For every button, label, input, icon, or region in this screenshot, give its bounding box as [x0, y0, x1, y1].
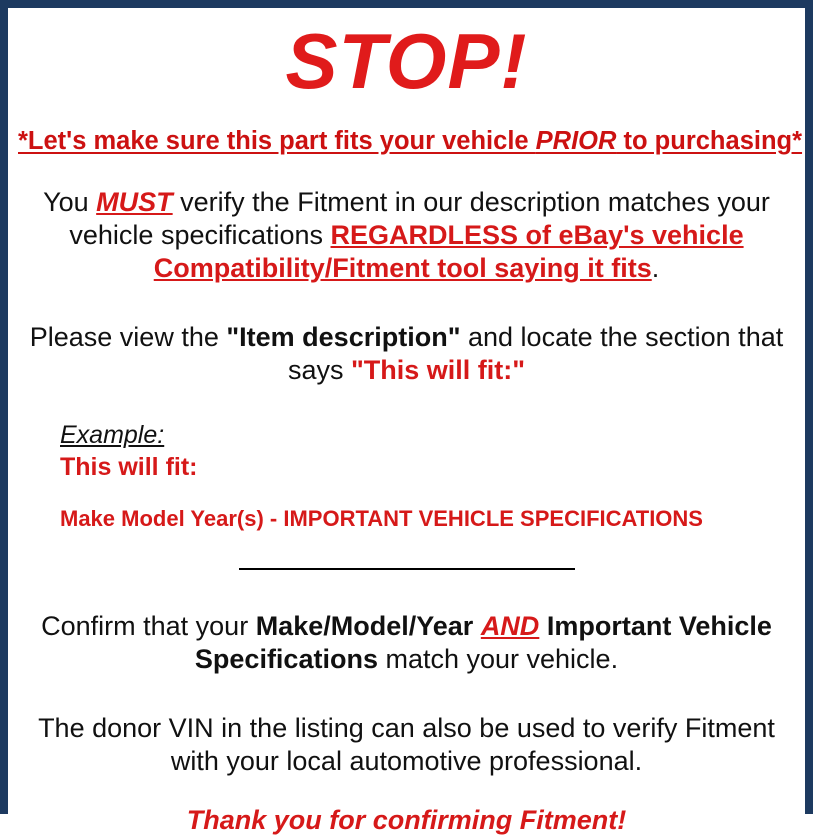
confirm-paragraph-part2: match your vehicle.: [378, 644, 618, 674]
example-block: Example: This will fit: Make Model Year(…: [18, 421, 795, 532]
item-description-paragraph: Please view the "Item description" and l…: [18, 321, 795, 387]
example-fit-heading: This will fit:: [60, 452, 795, 482]
confirm-space-1: [473, 611, 481, 641]
stop-headline: STOP!: [18, 22, 795, 100]
confirm-paragraph-part1: Confirm that your: [41, 611, 256, 641]
section-divider: [239, 568, 575, 570]
item-description-label: "Item description": [226, 322, 460, 352]
confirm-paragraph: Confirm that your Make/Model/Year AND Im…: [18, 610, 795, 676]
confirm-space-2: [539, 611, 547, 641]
fitment-notice-frame: STOP! *Let's make sure this part fits yo…: [0, 0, 813, 814]
thank-you-message: Thank you for confirming Fitment!: [18, 804, 795, 836]
must-paragraph-part3: .: [652, 253, 660, 283]
must-verify-paragraph: You MUST verify the Fitment in our descr…: [18, 186, 795, 285]
tagline-suffix: to purchasing*: [616, 127, 802, 155]
donor-vin-paragraph: The donor VIN in the listing can also be…: [18, 712, 795, 778]
divider-wrap: [18, 560, 795, 578]
this-will-fit-quote: "This will fit:": [351, 355, 525, 385]
view-paragraph-part1: Please view the: [30, 322, 227, 352]
example-spec-line: Make Model Year(s) - IMPORTANT VEHICLE S…: [60, 506, 795, 532]
example-label: Example:: [60, 421, 795, 450]
tagline-prior-emphasis: PRIOR: [536, 127, 617, 155]
tagline-prefix: *Let's make sure this part fits your veh…: [18, 127, 536, 155]
must-paragraph-part1: You: [43, 187, 96, 217]
fitment-tagline: *Let's make sure this part fits your veh…: [18, 127, 795, 156]
fitment-notice-body: STOP! *Let's make sure this part fits yo…: [8, 22, 805, 820]
make-model-year-emphasis: Make/Model/Year: [256, 611, 474, 641]
must-emphasis: MUST: [96, 187, 173, 217]
and-emphasis: AND: [481, 611, 540, 641]
